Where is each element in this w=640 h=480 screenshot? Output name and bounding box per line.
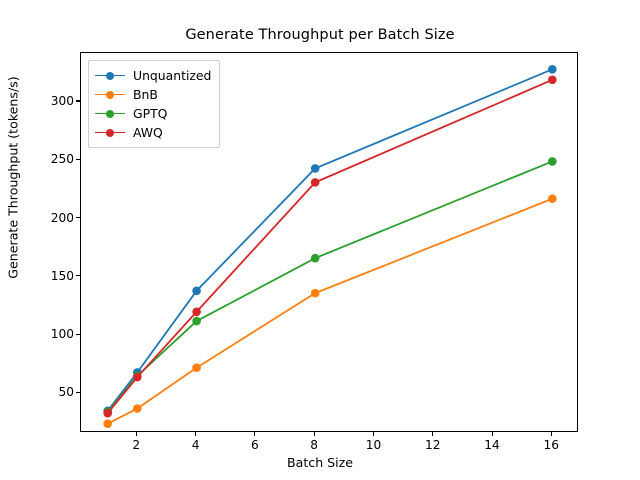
series-marker: [192, 317, 201, 326]
y-tick-mark: [76, 217, 80, 218]
series-marker: [192, 307, 201, 316]
series-marker: [311, 254, 320, 263]
legend-marker-icon: [95, 126, 125, 140]
x-tick-label: 2: [116, 438, 156, 452]
series-marker: [311, 164, 320, 173]
y-tick-label: 100: [34, 327, 74, 341]
series-marker: [192, 363, 201, 372]
series-marker: [133, 373, 142, 382]
x-tick-label: 8: [294, 438, 334, 452]
x-tick-label: 14: [472, 438, 512, 452]
x-tick-label: 10: [353, 438, 393, 452]
x-tick-label: 6: [235, 438, 275, 452]
x-tick-mark: [373, 432, 374, 436]
y-axis-tick-labels: 50100150200250300: [34, 0, 74, 480]
y-axis-tick-marks: [76, 0, 80, 480]
legend-marker-icon: [95, 107, 125, 121]
legend-marker-icon: [95, 88, 125, 102]
x-tick-mark: [195, 432, 196, 436]
y-tick-mark: [76, 100, 80, 101]
x-tick-mark: [254, 432, 255, 436]
x-axis-tick-labels: 246810121416: [0, 438, 640, 458]
legend-item-label: Unquantized: [133, 68, 211, 83]
y-tick-label: 300: [34, 94, 74, 108]
y-tick-label: 250: [34, 152, 74, 166]
x-tick-label: 12: [413, 438, 453, 452]
series-marker: [133, 404, 142, 413]
x-axis-tick-marks: [0, 432, 640, 437]
series-marker: [548, 65, 557, 74]
chart-series: [103, 194, 556, 428]
x-tick-label: 4: [176, 438, 216, 452]
legend-item-label: BnB: [133, 87, 158, 102]
y-tick-label: 150: [34, 269, 74, 283]
matplotlib-figure: Generate Throughput per Batch Size Gener…: [0, 0, 640, 480]
legend-item-label: GPTQ: [133, 106, 167, 121]
y-tick-mark: [76, 392, 80, 393]
legend-item[interactable]: GPTQ: [95, 104, 211, 123]
x-tick-mark: [551, 432, 552, 436]
series-marker: [548, 194, 557, 203]
series-marker: [192, 286, 201, 295]
y-axis-label: Generate Throughput (tokens/s): [6, 0, 21, 388]
chart-legend: UnquantizedBnBGPTQAWQ: [88, 60, 220, 148]
y-tick-mark: [76, 275, 80, 276]
y-tick-label: 50: [34, 385, 74, 399]
series-marker: [548, 157, 557, 166]
series-marker: [103, 419, 112, 428]
x-tick-mark: [136, 432, 137, 436]
series-marker: [103, 409, 112, 418]
legend-item[interactable]: AWQ: [95, 123, 211, 142]
y-tick-mark: [76, 334, 80, 335]
series-marker: [311, 289, 320, 298]
legend-item[interactable]: BnB: [95, 85, 211, 104]
x-tick-label: 16: [531, 438, 571, 452]
series-marker: [548, 76, 557, 85]
legend-item-label: AWQ: [133, 125, 163, 140]
x-tick-mark: [432, 432, 433, 436]
x-tick-mark: [492, 432, 493, 436]
chart-title: Generate Throughput per Batch Size: [0, 27, 640, 43]
legend-marker-icon: [95, 69, 125, 83]
legend-item[interactable]: Unquantized: [95, 66, 211, 85]
series-line: [108, 199, 553, 424]
x-tick-mark: [314, 432, 315, 436]
y-tick-label: 200: [34, 211, 74, 225]
series-marker: [311, 178, 320, 187]
y-tick-mark: [76, 159, 80, 160]
